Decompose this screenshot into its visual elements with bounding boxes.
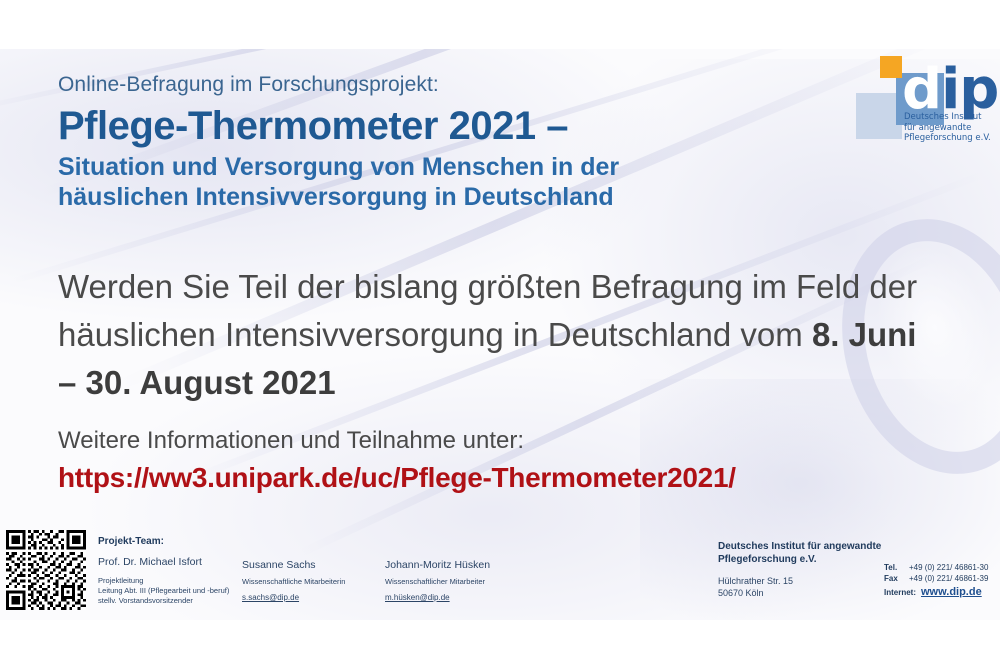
kicker-text: Online-Befragung im Forschungsprojekt: xyxy=(58,72,619,98)
survey-url-link[interactable]: https://ww3.unipark.de/uc/Pflege-Thermom… xyxy=(58,459,958,497)
institute-block: Deutsches Institut für angewandte Pflege… xyxy=(718,540,888,599)
tel-value: +49 (0) 221/ 46861-30 xyxy=(909,562,988,573)
qr-code-icon[interactable] xyxy=(6,530,86,610)
person-role: Wissenschaftliche Mitarbeiterin xyxy=(242,577,387,587)
contact-block: Tel. +49 (0) 221/ 46861-30 Fax +49 (0) 2… xyxy=(884,562,988,598)
fax-value: +49 (0) 221/ 46861-39 xyxy=(909,573,988,584)
person-name: Prof. Dr. Michael Isfort xyxy=(98,556,248,568)
person-email-link[interactable]: m.hüsken@dip.de xyxy=(385,593,450,602)
footer: Projekt-Team: Prof. Dr. Michael Isfort P… xyxy=(0,528,1000,620)
institute-address: Hülchrather Str. 15 50670 Köln xyxy=(718,575,888,599)
person-role: Wissenschaftlicher Mitarbeiter xyxy=(385,577,535,587)
contact-row-web: Internet: www.dip.de xyxy=(884,587,988,598)
institute-name-line-1: Deutsches Institut für angewandte xyxy=(718,541,881,552)
website-link[interactable]: www.dip.de xyxy=(921,587,982,598)
page-subtitle-line-2: häuslichen Intensivversorgung in Deutsch… xyxy=(58,183,614,211)
page-title: Pflege-Thermometer 2021 – xyxy=(58,104,619,148)
logo-square-orange xyxy=(880,56,902,78)
team-column-isfort: Projekt-Team: Prof. Dr. Michael Isfort P… xyxy=(98,536,248,606)
page-subtitle-line-1: Situation und Versorgung von Menschen in… xyxy=(58,153,619,181)
person-name: Johann-Moritz Hüsken xyxy=(385,559,535,571)
call-to-action: Weitere Informationen und Teilnahme unte… xyxy=(58,425,958,497)
institute-city: 50670 Köln xyxy=(718,588,764,598)
logo-wordmark: dip xyxy=(902,62,998,118)
body-copy-text: Werden Sie Teil der bislang größten Befr… xyxy=(58,268,917,353)
institute-street: Hülchrather Str. 15 xyxy=(718,576,793,586)
contact-row-fax: Fax +49 (0) 221/ 46861-39 xyxy=(884,573,988,584)
institute-name-line-2: Pflegeforschung e.V. xyxy=(718,554,817,565)
page-subtitle: Situation und Versorgung von Menschen in… xyxy=(58,152,619,212)
contact-row-tel: Tel. +49 (0) 221/ 46861-30 xyxy=(884,562,988,573)
fax-label: Fax xyxy=(884,573,904,584)
web-label: Internet: xyxy=(884,587,916,598)
body-copy: Werden Sie Teil der bislang größten Befr… xyxy=(58,263,918,407)
dip-logo: dip Deutsches Institut für angewandte Pf… xyxy=(856,52,992,156)
person-name: Susanne Sachs xyxy=(242,559,387,571)
team-column-sachs: Susanne Sachs Wissenschaftliche Mitarbei… xyxy=(242,559,387,605)
flyer-poster: dip Deutsches Institut für angewandte Pf… xyxy=(0,0,1000,667)
cta-lead-text: Weitere Informationen und Teilnahme unte… xyxy=(58,425,958,457)
person-email-link[interactable]: s.sachs@dip.de xyxy=(242,593,299,602)
headline-block: Online-Befragung im Forschungsprojekt: P… xyxy=(58,72,619,212)
person-role: Projektleitung Leitung Abt. III (Pflegea… xyxy=(98,576,248,606)
tel-label: Tel. xyxy=(884,562,904,573)
team-column-husken: Johann-Moritz Hüsken Wissenschaftlicher … xyxy=(385,559,535,605)
institute-name: Deutsches Institut für angewandte Pflege… xyxy=(718,540,888,566)
team-heading: Projekt-Team: xyxy=(98,536,248,547)
logo-subtitle: Deutsches Institut für angewandte Pflege… xyxy=(904,112,996,144)
